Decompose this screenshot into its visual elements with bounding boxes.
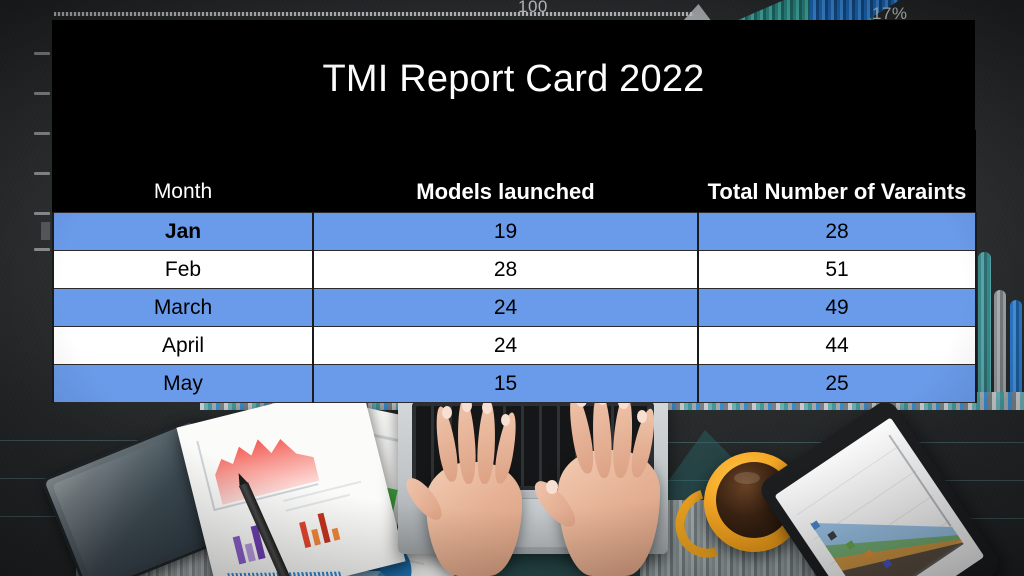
decor-plank-teal	[978, 252, 991, 398]
cell-variants: 49	[698, 289, 976, 327]
cell-variants: 25	[698, 365, 976, 403]
cell-variants: 44	[698, 327, 976, 365]
chalk-tick-icon	[34, 248, 50, 251]
top-ruler-strip	[54, 12, 694, 16]
decor-plank-wood	[994, 290, 1006, 400]
chalk-mark-icon	[41, 222, 50, 240]
hand-right	[536, 390, 676, 576]
table-row: March 24 49	[53, 289, 976, 327]
slide-panel: TMI Report Card 2022 Month Models launch…	[52, 20, 975, 395]
table-body: Jan 19 28 Feb 28 51 March 24 49 April 24	[53, 213, 976, 403]
column-header-models-launched: Models launched	[313, 130, 698, 213]
cell-month: April	[53, 327, 313, 365]
chalk-tick-icon	[34, 132, 50, 135]
chalk-tick-icon	[34, 52, 50, 55]
cell-models: 19	[313, 213, 698, 251]
cell-models: 15	[313, 365, 698, 403]
cell-month: March	[53, 289, 313, 327]
slide-screenshot: 100 17%	[0, 0, 1024, 576]
table-row: April 24 44	[53, 327, 976, 365]
cell-variants: 51	[698, 251, 976, 289]
cell-month: May	[53, 365, 313, 403]
cell-models: 24	[313, 327, 698, 365]
chalk-tick-icon	[34, 212, 50, 215]
column-header-month: Month	[53, 130, 313, 213]
page-title: TMI Report Card 2022	[52, 58, 975, 101]
chalk-tick-icon	[34, 92, 50, 95]
column-header-total-variants: Total Number of Varaints	[698, 130, 976, 213]
decor-plank-blue	[1010, 300, 1022, 400]
table-row: May 15 25	[53, 365, 976, 403]
table-row: Jan 19 28	[53, 213, 976, 251]
cell-variants: 28	[698, 213, 976, 251]
top-label-100: 100	[518, 0, 548, 17]
table-header-row: Month Models launched Total Number of Va…	[53, 130, 976, 213]
mini-area-chart-red	[207, 419, 320, 505]
table-header: Month Models launched Total Number of Va…	[53, 130, 976, 213]
chalk-tick-icon	[34, 172, 50, 175]
cell-month: Jan	[53, 213, 313, 251]
cell-month: Feb	[53, 251, 313, 289]
table-row: Feb 28 51	[53, 251, 976, 289]
hand-left	[408, 398, 538, 576]
top-chart-triangle-white	[682, 2, 712, 22]
cell-models: 28	[313, 251, 698, 289]
cell-models: 24	[313, 289, 698, 327]
report-table: Month Models launched Total Number of Va…	[52, 130, 977, 403]
